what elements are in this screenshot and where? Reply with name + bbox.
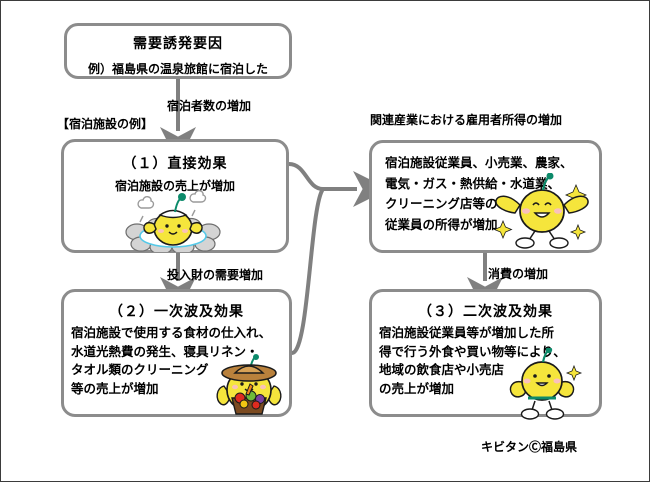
kibitan-hotspring-icon [119,190,229,252]
mascot-credit: キビタンⒸ福島県 [481,438,577,455]
secondary-ripple-title: （３）二次波及効果 [372,301,599,321]
employee-income-line-1: 宿泊施設従業員、小売業、農家、 [385,153,599,174]
kibitan-cheer-icon [490,173,594,251]
page-frame: 需要誘発要因 例）福島県の温泉旅館に宿泊した 宿泊者数の増加 【宿泊施設の例】 … [0,0,650,482]
demand-trigger-subtitle: 例）福島県の温泉旅館に宿泊した [67,60,289,77]
primary-ripple-title: （２）一次波及効果 [64,301,289,321]
secondary-ripple-line-1: 宿泊施設従業員等が増加した所 [379,324,599,343]
employee-income-box: 宿泊施設従業員、小売業、農家、 電気・ガス・熱供給・水道業、 クリーニング店等の… [369,140,602,253]
secondary-ripple-box: （３）二次波及効果 宿泊施設従業員等が増加した所 得で行う外食や買い物等により、… [369,289,602,417]
label-employee-income: 関連産業における雇用者所得の増加 [370,111,562,128]
primary-ripple-box: （２）一次波及効果 宿泊施設で使用する食材の仕入れ、 水道光熱費の発生、寝具リネ… [61,289,292,417]
arrow-primary-to-income [292,189,357,353]
primary-ripple-line-1: 宿泊施設で使用する食材の仕入れ、 [71,324,289,343]
demand-trigger-box: 需要誘発要因 例）福島県の温泉旅館に宿泊した [64,23,292,79]
label-consumption-increase: 消費の増加 [488,265,548,282]
label-facility-example: 【宿泊施設の例】 [57,115,153,132]
demand-trigger-title: 需要誘発要因 [67,33,289,53]
label-input-demand: 投入財の需要増加 [167,266,263,283]
label-guest-increase: 宿泊者数の増加 [167,97,251,114]
direct-effect-box: （１）直接効果 宿泊施設の売上が増加 [61,139,289,253]
arrow-direct-to-income [289,164,353,189]
kibitan-flex-icon [500,348,586,420]
diagram-canvas: 需要誘発要因 例）福島県の温泉旅館に宿泊した 宿泊者数の増加 【宿泊施設の例】 … [1,1,649,481]
direct-effect-title: （１）直接効果 [64,153,286,173]
kibitan-farmer-icon [210,354,288,418]
